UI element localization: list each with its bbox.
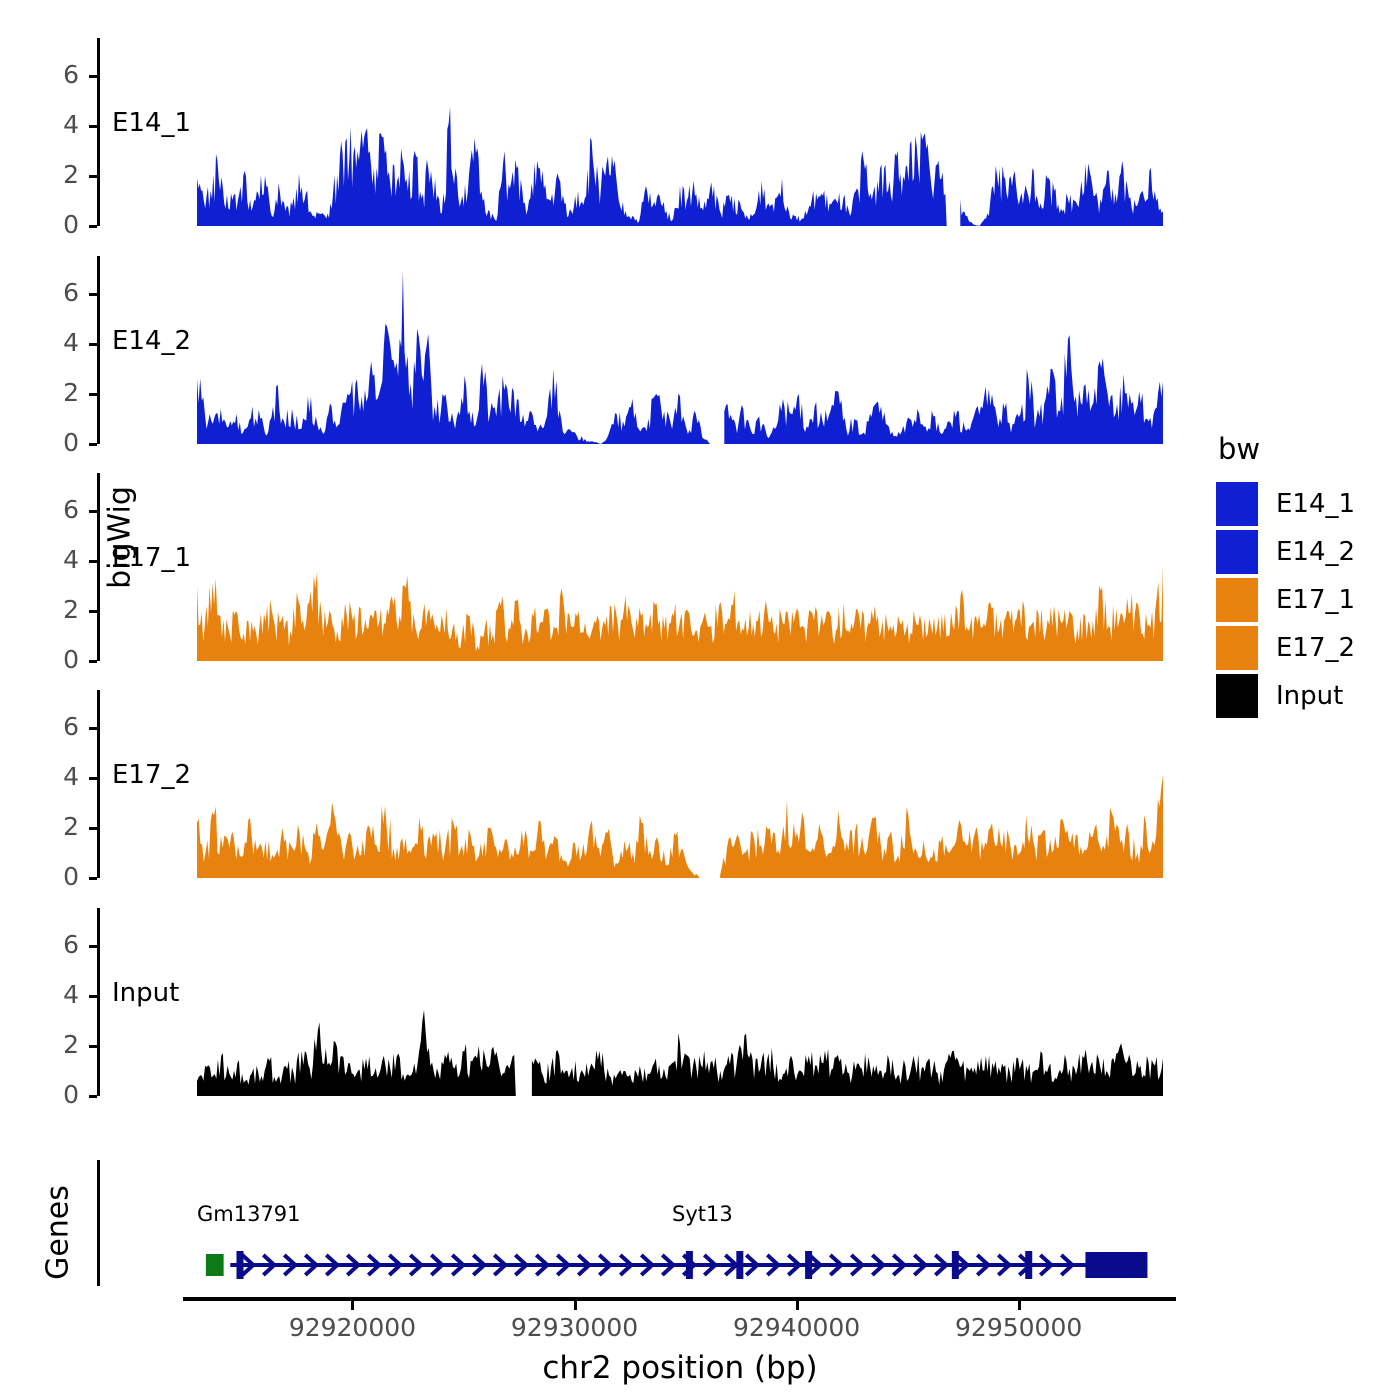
x-axis-title: chr2 position (bp): [300, 1350, 1060, 1386]
x-axis-tick-label: 92930000: [475, 1313, 675, 1342]
signal-area: [197, 566, 1163, 661]
x-axis-tick: [351, 1301, 354, 1310]
y-axis-tick-label: 6: [39, 60, 79, 89]
signal-area: [197, 107, 1163, 226]
legend-swatch: [1216, 626, 1258, 670]
y-axis-tick-label: 4: [39, 545, 79, 574]
y-axis-tick-label: 6: [39, 930, 79, 959]
gene-models: [0, 1235, 1400, 1295]
legend-item-e14_2[interactable]: E14_2: [1216, 528, 1355, 576]
gene-exon: [236, 1251, 243, 1279]
y-axis-tick-label: 4: [39, 762, 79, 791]
y-axis-line: [97, 473, 100, 661]
y-axis-tick: [89, 945, 97, 948]
y-axis-tick: [89, 995, 97, 998]
signal-track-e14_1: [197, 38, 1163, 228]
y-axis-tick: [89, 877, 97, 880]
y-axis-tick: [89, 293, 97, 296]
y-axis-tick-label: 6: [39, 712, 79, 741]
y-axis-tick-label: 0: [39, 1080, 79, 1109]
y-axis-tick: [89, 660, 97, 663]
y-axis-tick: [89, 510, 97, 513]
y-axis-line: [97, 256, 100, 444]
gene-exon: [1025, 1251, 1032, 1279]
y-axis-tick: [89, 727, 97, 730]
y-axis-tick: [89, 560, 97, 563]
signal-track-e17_2: [197, 690, 1163, 880]
y-axis-tick: [89, 1045, 97, 1048]
y-axis-tick: [89, 225, 97, 228]
y-axis-line: [97, 908, 100, 1096]
panel-label-input: Input: [112, 978, 179, 1008]
legend-label: E17_1: [1276, 585, 1355, 615]
y-axis-line: [97, 690, 100, 878]
signal-area: [197, 746, 1163, 878]
y-axis-tick-label: 4: [39, 328, 79, 357]
y-axis-tick-label: 0: [39, 862, 79, 891]
signal-area: [197, 1010, 1163, 1096]
y-axis-tick: [89, 393, 97, 396]
x-axis-tick-label: 92940000: [697, 1313, 897, 1342]
x-axis-line: [183, 1297, 1176, 1301]
gene-gm13791[interactable]: [206, 1254, 224, 1276]
y-axis-tick: [89, 75, 97, 78]
gene-exon: [686, 1251, 693, 1279]
y-axis-tick-label: 6: [39, 495, 79, 524]
y-axis-tick: [89, 610, 97, 613]
y-axis-tick-label: 2: [39, 160, 79, 189]
y-axis-tick-label: 2: [39, 595, 79, 624]
y-axis-tick-label: 2: [39, 1030, 79, 1059]
panel-label-e17_1: E17_1: [112, 543, 191, 573]
gene-syt13[interactable]: [230, 1251, 1147, 1279]
legend-label: Input: [1276, 681, 1343, 711]
y-axis-line: [97, 38, 100, 226]
y-axis-tick-label: 2: [39, 812, 79, 841]
signal-track-input: [197, 908, 1163, 1098]
y-axis-tick: [89, 443, 97, 446]
y-axis-tick: [89, 1095, 97, 1098]
legend: bw E14_1E14_2E17_1E17_2Input: [1216, 432, 1355, 720]
y-axis-tick-label: 0: [39, 210, 79, 239]
y-axis-title: bigWig: [103, 428, 138, 648]
y-axis-tick-label: 0: [39, 645, 79, 674]
signal-track-e17_1: [197, 473, 1163, 663]
panel-label-e17_2: E17_2: [112, 760, 191, 790]
legend-items: E14_1E14_2E17_1E17_2Input: [1216, 480, 1355, 720]
x-axis-tick-label: 92950000: [919, 1313, 1119, 1342]
y-axis-tick: [89, 777, 97, 780]
y-axis-tick: [89, 827, 97, 830]
x-axis-tick: [796, 1301, 799, 1310]
legend-swatch: [1216, 674, 1258, 718]
gene-label-syt13: Syt13: [672, 1202, 733, 1226]
panel-label-e14_1: E14_1: [112, 108, 191, 138]
gene-exon: [736, 1251, 743, 1279]
legend-label: E14_2: [1276, 537, 1355, 567]
legend-label: E17_2: [1276, 633, 1355, 663]
y-axis-tick: [89, 125, 97, 128]
legend-item-e17_2[interactable]: E17_2: [1216, 624, 1355, 672]
y-axis-tick-label: 6: [39, 278, 79, 307]
gene-exon: [1085, 1252, 1147, 1278]
legend-swatch: [1216, 530, 1258, 574]
legend-swatch: [1216, 482, 1258, 526]
legend-swatch: [1216, 578, 1258, 622]
legend-item-e17_1[interactable]: E17_1: [1216, 576, 1355, 624]
signal-area: [197, 271, 1163, 444]
gene-exon: [952, 1251, 959, 1279]
genes-axis-title: Genes: [41, 1133, 76, 1333]
gene-exon: [805, 1251, 812, 1279]
legend-title: bw: [1218, 432, 1355, 466]
y-axis-tick: [89, 343, 97, 346]
signal-track-e14_2: [197, 256, 1163, 446]
y-axis-tick-label: 4: [39, 110, 79, 139]
panel-label-e14_2: E14_2: [112, 326, 191, 356]
y-axis-tick-label: 0: [39, 428, 79, 457]
legend-item-input[interactable]: Input: [1216, 672, 1355, 720]
gene-label-gm13791: Gm13791: [197, 1202, 301, 1226]
y-axis-tick-label: 2: [39, 378, 79, 407]
x-axis-tick: [574, 1301, 577, 1310]
x-axis-tick-label: 92920000: [252, 1313, 452, 1342]
legend-label: E14_1: [1276, 489, 1355, 519]
legend-item-e14_1[interactable]: E14_1: [1216, 480, 1355, 528]
y-axis-tick-label: 4: [39, 980, 79, 1009]
y-axis-tick: [89, 175, 97, 178]
x-axis-tick: [1018, 1301, 1021, 1310]
